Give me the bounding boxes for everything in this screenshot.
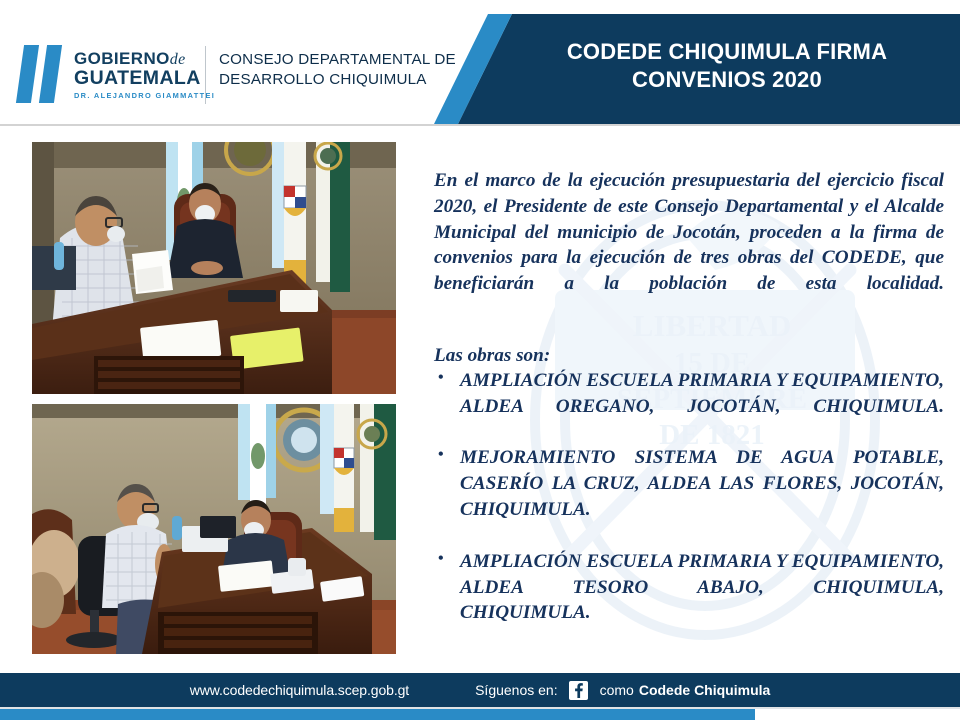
guatemala-government-bars-icon <box>18 45 66 105</box>
content-panel: En el marco de la ejecución presupuestar… <box>434 168 944 652</box>
logo-line1: GOBIERNO <box>74 49 170 68</box>
website-url[interactable]: www.codedechiquimula.scep.gob.gt <box>190 682 409 698</box>
slide-footer: www.codedechiquimula.scep.gob.gt Sígueno… <box>0 673 960 707</box>
intro-paragraph: En el marco de la ejecución presupuestar… <box>434 168 944 323</box>
photo-signing-documents <box>32 404 396 654</box>
obras-lead-label: Las obras son: <box>434 345 944 367</box>
como-label: como <box>600 682 634 698</box>
facebook-icon[interactable] <box>569 681 588 700</box>
follow-label: Síguenos en: <box>475 682 558 698</box>
footer-accent-gap <box>755 709 960 720</box>
page-title-line2: CONVENIOS 2020 <box>512 66 942 94</box>
list-item: AMPLIACIÓN ESCUELA PRIMARIA Y EQUIPAMIEN… <box>434 368 944 445</box>
page-title-line1: CODEDE CHIQUIMULA FIRMA <box>512 38 942 66</box>
obra-text: AMPLIACIÓN ESCUELA PRIMARIA Y EQUIPAMIEN… <box>460 368 944 445</box>
logo-line2: GUATEMALA <box>74 69 215 89</box>
logo-line3-president: DR. ALEJANDRO GIAMMATTEI <box>74 91 215 100</box>
obra-text: MEJORAMIENTO SISTEMA DE AGUA POTABLE, CA… <box>460 445 944 548</box>
logo-line1-italic: de <box>170 51 186 68</box>
facebook-page-name[interactable]: Codede Chiquimula <box>639 682 770 698</box>
obras-list: AMPLIACIÓN ESCUELA PRIMARIA Y EQUIPAMIEN… <box>434 368 944 652</box>
list-item: MEJORAMIENTO SISTEMA DE AGUA POTABLE, CA… <box>434 445 944 548</box>
logo-wordmark: GOBIERNOde GUATEMALA DR. ALEJANDRO GIAMM… <box>74 50 215 99</box>
footer-accent-bar <box>0 709 755 720</box>
photo-signing-meeting-wide <box>32 142 396 394</box>
list-item: AMPLIACIÓN ESCUELA PRIMARIA Y EQUIPAMIEN… <box>434 549 944 652</box>
entity-name: CONSEJO DEPARTAMENTAL DE DESARROLLO CHIQ… <box>219 50 459 90</box>
slide-root: LIBERTAD 15 DE SEPTIEMBRE DE 1821 GOBIER… <box>0 0 960 720</box>
obra-text: AMPLIACIÓN ESCUELA PRIMARIA Y EQUIPAMIEN… <box>460 549 944 652</box>
header-separator-rule <box>0 124 960 126</box>
government-logo: GOBIERNOde GUATEMALA DR. ALEJANDRO GIAMM… <box>18 40 215 110</box>
logo-divider <box>205 46 206 104</box>
page-title: CODEDE CHIQUIMULA FIRMA CONVENIOS 2020 <box>512 38 942 94</box>
slide-header: GOBIERNOde GUATEMALA DR. ALEJANDRO GIAMM… <box>0 14 960 124</box>
